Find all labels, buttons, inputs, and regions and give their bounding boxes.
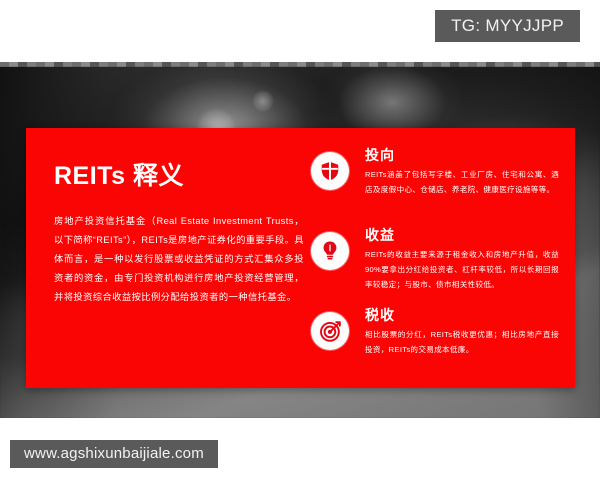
feature-title: 税收 xyxy=(365,308,559,323)
feature-text: REITs涵盖了包括写字楼、工业厂房、住宅和公寓、酒店及度假中心、仓储店、养老院… xyxy=(365,168,559,198)
reits-info-card: REITs 释义 房地产投资信托基金（Real Estate Investmen… xyxy=(26,128,575,388)
page-title: REITs 释义 xyxy=(54,156,304,192)
lightbulb-icon xyxy=(311,232,349,270)
feature-item-returns: 收益 REITs的收益主要来源于租金收入和房地产升值，收益90%要拿出分红给投资… xyxy=(311,228,559,294)
feature-title: 收益 xyxy=(365,228,559,243)
site-watermark: www.agshixunbaijiale.com xyxy=(10,440,218,468)
card-description: 房地产投资信托基金（Real Estate Investment Trusts，… xyxy=(54,212,304,307)
feature-item-taxation: 税收 相比股票的分红，REITs税收更优惠；相比房地产直接投资，REITs的交易… xyxy=(311,308,559,374)
shield-icon xyxy=(311,152,349,190)
feature-text: 相比股票的分红，REITs税收更优惠；相比房地产直接投资，REITs的交易成本低… xyxy=(365,328,559,358)
feature-title: 投向 xyxy=(365,148,559,163)
card-left-column: REITs 释义 房地产投资信托基金（Real Estate Investmen… xyxy=(54,156,304,307)
feature-text: REITs的收益主要来源于租金收入和房地产升值，收益90%要拿出分红给投资者、杠… xyxy=(365,248,559,292)
bokeh-highlight xyxy=(252,90,274,112)
card-right-column: 投向 REITs涵盖了包括写字楼、工业厂房、住宅和公寓、酒店及度假中心、仓储店、… xyxy=(311,148,559,374)
target-icon xyxy=(311,312,349,350)
tg-badge: TG: MYYJJPP xyxy=(435,10,580,42)
feature-item-investment-scope: 投向 REITs涵盖了包括写字楼、工业厂房、住宅和公寓、酒店及度假中心、仓储店、… xyxy=(311,148,559,214)
